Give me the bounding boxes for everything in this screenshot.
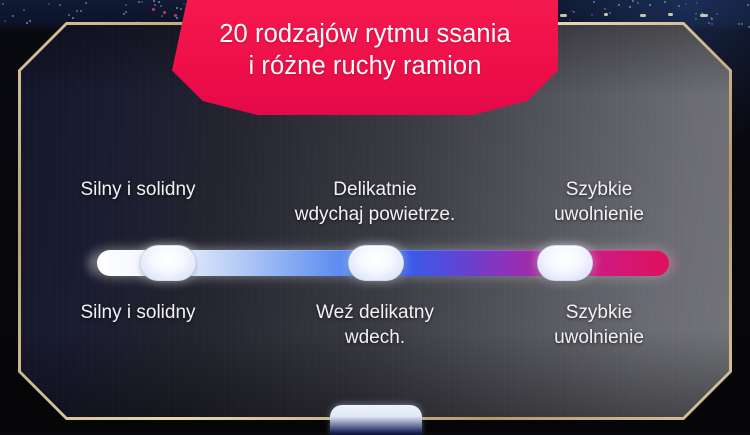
- label-top-gentle-line1: Delikatnie: [269, 177, 481, 202]
- label-top-strong-line1: Silny i solidny: [29, 177, 247, 202]
- headline-banner: 20 rodzajów rytmu ssania i różne ruchy r…: [172, 0, 558, 115]
- label-bottom-quick-line1: Szybkie: [499, 300, 699, 325]
- label-top-strong: Silny i solidny: [29, 177, 247, 227]
- bottom-device-pill: [330, 405, 422, 435]
- banner-line-2: i różne ruchy ramion: [248, 50, 481, 82]
- label-bottom-strong-line1: Silny i solidny: [29, 300, 247, 325]
- label-top-quick-line2: uwolnienie: [499, 202, 699, 227]
- label-bottom-gentle: Weź delikatny wdech.: [269, 300, 481, 350]
- label-top-gentle-line2: wdychaj powietrze.: [269, 202, 481, 227]
- label-bottom-gentle-line1: Weź delikatny: [269, 300, 481, 325]
- label-bottom-gentle-line2: wdech.: [269, 325, 481, 350]
- label-top-quick: Szybkie uwolnienie: [499, 177, 699, 227]
- slider-knob-2[interactable]: [348, 245, 404, 281]
- banner-line-1: 20 rodzajów rytmu ssania: [219, 18, 511, 50]
- label-top-gentle: Delikatnie wdychaj powietrze.: [269, 177, 481, 227]
- label-top-quick-line1: Szybkie: [499, 177, 699, 202]
- label-bottom-strong: Silny i solidny: [29, 300, 247, 350]
- slider-knob-1[interactable]: [140, 245, 196, 281]
- label-bottom-quick: Szybkie uwolnienie: [499, 300, 699, 350]
- slider-knob-3[interactable]: [537, 245, 593, 281]
- label-bottom-quick-line2: uwolnienie: [499, 325, 699, 350]
- slider-labels-bottom: Silny i solidny Weź delikatny wdech. Szy…: [21, 300, 729, 350]
- intensity-slider[interactable]: [97, 250, 669, 276]
- slider-labels-top: Silny i solidny Delikatnie wdychaj powie…: [21, 177, 729, 227]
